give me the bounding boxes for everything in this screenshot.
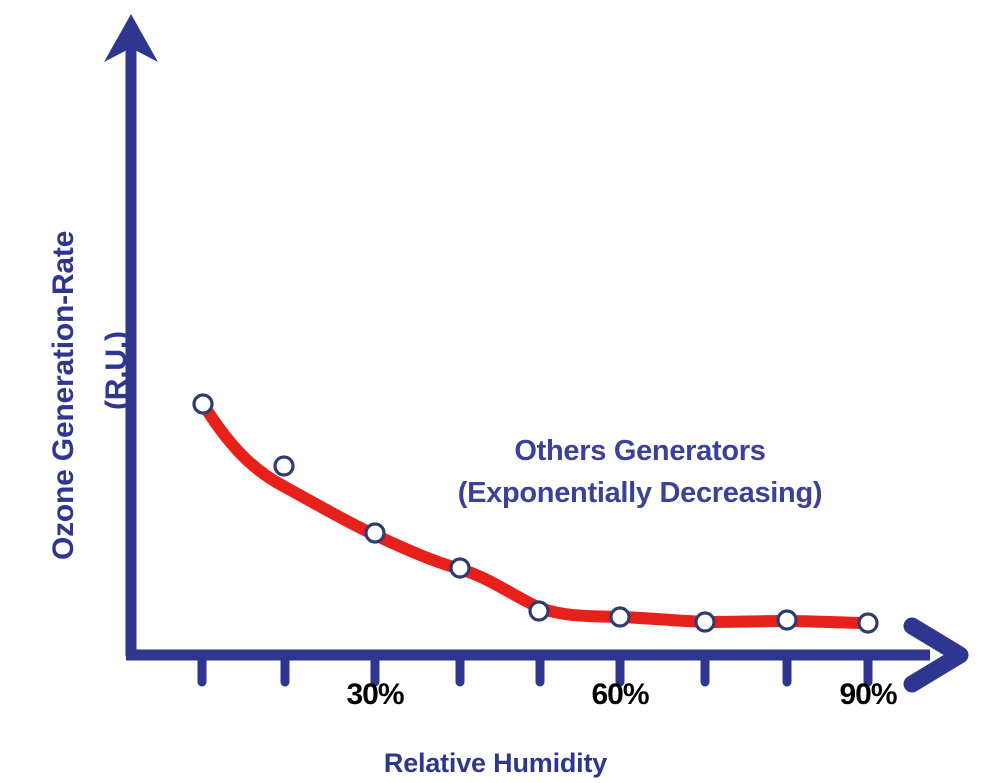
x-tick-label-90: 90%: [808, 678, 928, 712]
y-axis-title-line2: (R.U.): [100, 331, 134, 410]
data-point: [366, 524, 384, 542]
data-point: [275, 457, 293, 475]
series-annotation-label: Others Generators (Exponentially Decreas…: [400, 430, 880, 514]
x-axis-ticks: [202, 658, 868, 682]
y-axis-title-unit: (R.U.): [0, 0, 110, 783]
chart-plot-area: [0, 0, 991, 783]
annotation-line-1: Others Generators: [514, 435, 765, 467]
data-point: [859, 614, 877, 632]
x-tick-label-30: 30%: [315, 678, 435, 712]
annotation-line-2: (Exponentially Decreasing): [400, 472, 880, 514]
chart-container: Ozone Generation-Rate (R.U.) 30% 60% 90%…: [0, 0, 991, 783]
data-point: [778, 611, 796, 629]
data-point: [194, 395, 212, 413]
x-tick-label-60: 60%: [560, 678, 680, 712]
data-point: [530, 602, 548, 620]
data-point: [451, 559, 469, 577]
data-point: [696, 613, 714, 631]
x-axis-title: Relative Humidity: [0, 748, 991, 779]
data-point: [611, 608, 629, 626]
